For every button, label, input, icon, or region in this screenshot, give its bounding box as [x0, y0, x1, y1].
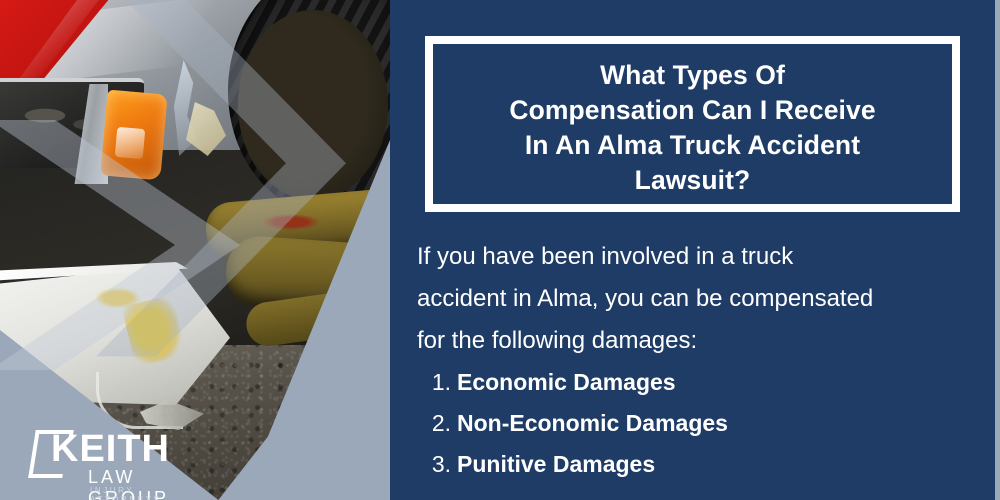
heading-line-4: Lawsuit? [443, 163, 942, 198]
list-item-number: 3. [417, 444, 451, 485]
intro-line-2: accident in Alma, you can be compensated [417, 278, 977, 320]
heading-line-2: Compensation Can I Receive [443, 93, 942, 128]
right-edge-strip [995, 0, 1000, 500]
rust-patch [262, 214, 320, 230]
page-title: What Types Of Compensation Can I Receive… [433, 44, 952, 198]
intro-line-3: for the following damages: [417, 320, 977, 362]
photo-panel: KEITH LAW GROUP INJURY ATTORNEYS [0, 0, 390, 500]
list-item-label: Non-Economic Damages [457, 403, 728, 444]
heading-line-3: In An Alma Truck Accident [443, 128, 942, 163]
list-item: 1. Economic Damages [417, 362, 977, 403]
list-item: 2. Non-Economic Damages [417, 403, 977, 444]
logo-name: KEITH [51, 426, 170, 472]
list-item-label: Economic Damages [457, 362, 676, 403]
damages-list: 1. Economic Damages 2. Non-Economic Dama… [417, 362, 977, 485]
turn-signal-highlight [115, 127, 146, 159]
list-item-number: 2. [417, 403, 451, 444]
heading-box: What Types Of Compensation Can I Receive… [425, 36, 960, 212]
list-item-label: Punitive Damages [457, 444, 655, 485]
keith-law-group-logo: KEITH LAW GROUP INJURY ATTORNEYS [32, 428, 192, 486]
intro-paragraph: If you have been involved in a truck acc… [417, 236, 977, 362]
logo-tagline: INJURY ATTORNEYS [90, 486, 192, 500]
content-panel: What Types Of Compensation Can I Receive… [390, 0, 995, 500]
list-item: 3. Punitive Damages [417, 444, 977, 485]
list-item-number: 1. [417, 362, 451, 403]
heading-line-1: What Types Of [443, 58, 942, 93]
yellow-paint-smear-small [96, 288, 140, 308]
intro-line-1: If you have been involved in a truck [417, 236, 977, 278]
wheel-well [238, 10, 388, 200]
infographic-canvas: KEITH LAW GROUP INJURY ATTORNEYS What Ty… [0, 0, 1000, 500]
